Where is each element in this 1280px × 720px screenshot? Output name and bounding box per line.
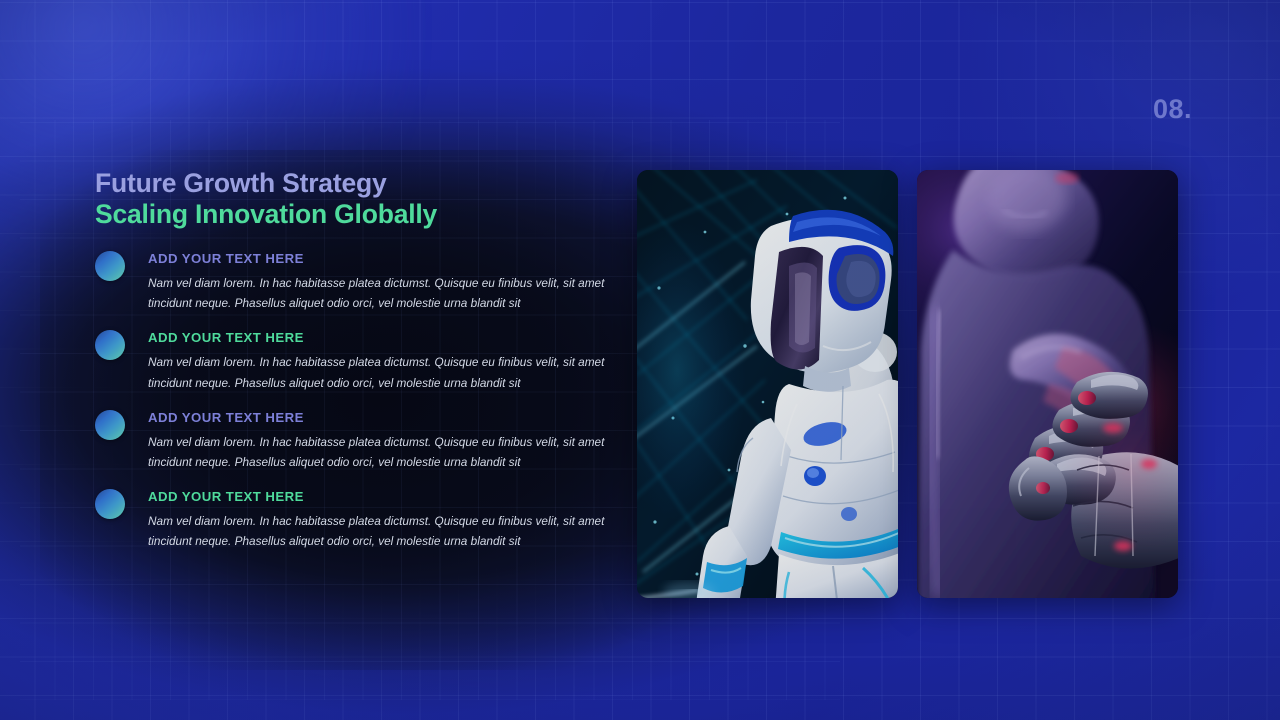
image-card-robot[interactable]: [637, 170, 898, 598]
bullet-circle-icon: [95, 489, 125, 519]
hands-illustration: [917, 170, 1178, 598]
page-number: 08.: [1153, 94, 1192, 125]
list-item-heading: ADD YOUR TEXT HERE: [148, 489, 630, 505]
list-item[interactable]: ADD YOUR TEXT HERE Nam vel diam lorem. I…: [95, 489, 630, 551]
list-item-body: Nam vel diam lorem. In hac habitasse pla…: [148, 432, 620, 473]
list-item[interactable]: ADD YOUR TEXT HERE Nam vel diam lorem. I…: [95, 251, 630, 313]
list-item-heading: ADD YOUR TEXT HERE: [148, 330, 630, 346]
list-item-body: Nam vel diam lorem. In hac habitasse pla…: [148, 511, 620, 552]
list-item[interactable]: ADD YOUR TEXT HERE Nam vel diam lorem. I…: [95, 330, 630, 392]
image-card-hands[interactable]: [917, 170, 1178, 598]
title-line-2: Scaling Innovation Globally: [95, 199, 630, 230]
list-item-body: Nam vel diam lorem. In hac habitasse pla…: [148, 273, 620, 314]
list-item-heading: ADD YOUR TEXT HERE: [148, 410, 630, 426]
content-column: Future Growth Strategy Scaling Innovatio…: [95, 168, 630, 552]
title-line-1: Future Growth Strategy: [95, 168, 630, 199]
list-item[interactable]: ADD YOUR TEXT HERE Nam vel diam lorem. I…: [95, 410, 630, 472]
page-title: Future Growth Strategy Scaling Innovatio…: [95, 168, 630, 230]
list-item-body: Nam vel diam lorem. In hac habitasse pla…: [148, 352, 620, 393]
bullet-circle-icon: [95, 251, 125, 281]
bullet-circle-icon: [95, 410, 125, 440]
presentation-slide: 08. Future Growth Strategy Scaling Innov…: [0, 0, 1280, 720]
robot-illustration: [637, 170, 898, 598]
list-item-heading: ADD YOUR TEXT HERE: [148, 251, 630, 267]
feature-list: ADD YOUR TEXT HERE Nam vel diam lorem. I…: [95, 251, 630, 552]
bullet-circle-icon: [95, 330, 125, 360]
